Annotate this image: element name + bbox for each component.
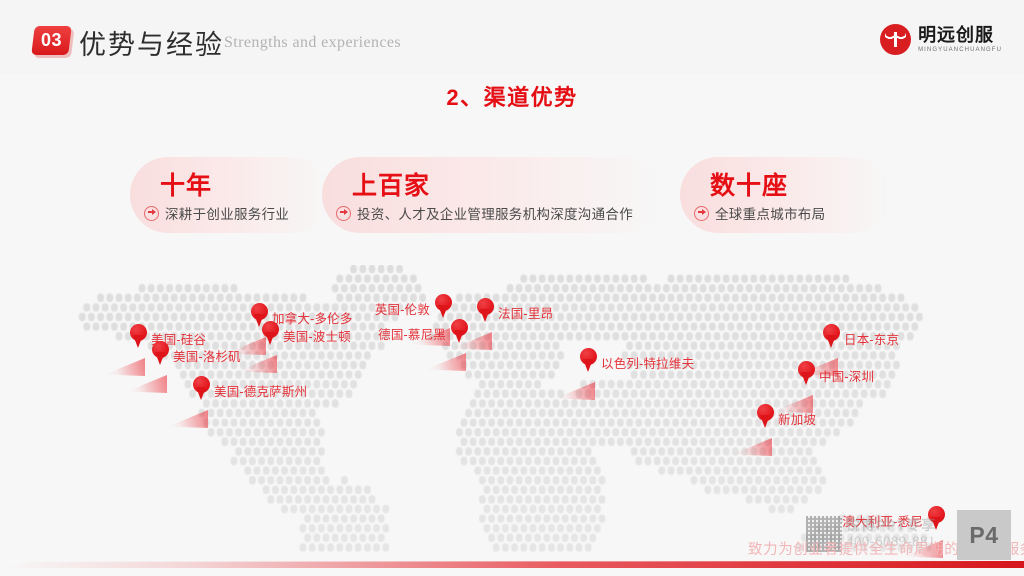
map-pin-icon: [477, 298, 494, 315]
page-title: 优势与经验: [79, 23, 224, 62]
stat-card: 数十座 全球重点城市布局: [680, 157, 890, 233]
stat-description: 深耕于创业服务行业: [165, 203, 289, 223]
map-marker-label: 法国-里昂: [498, 303, 553, 322]
logo-text: 明远创服 MINGYUANCHUANGFU: [918, 26, 1002, 53]
map-marker-label: 美国-洛杉矶: [173, 346, 241, 365]
map-pin-icon: [193, 376, 210, 393]
map-marker-label: 德国-慕尼黑: [378, 324, 446, 343]
map-marker-label: 新加坡: [778, 409, 816, 428]
slide-header: 03 优势与经验 Strengths and experiences 明远创服 …: [0, 0, 1024, 74]
stat-card: 上百家 投资、人才及企业管理服务机构深度沟通合作: [322, 157, 662, 233]
map-pin-icon: [435, 294, 452, 311]
stat-value: 数十座: [710, 166, 788, 202]
section-title: 2、渠道优势: [0, 80, 1024, 112]
page-number: P4: [957, 510, 1011, 560]
stat-description-row: 全球重点城市布局: [694, 203, 825, 223]
stat-description-row: 深耕于创业服务行业: [144, 203, 289, 223]
map-marker-label: 英国-伦敦: [375, 299, 430, 318]
section-number-text: 03: [33, 26, 70, 55]
slide-root: 03 优势与经验 Strengths and experiences 明远创服 …: [0, 0, 1024, 576]
map-pin-icon: [262, 321, 279, 338]
logo-mark-icon: [880, 24, 911, 55]
logo-name-cn: 明远创服: [918, 26, 1002, 44]
map-marker-label: 美国-波士顿: [283, 326, 351, 345]
logo-name-en: MINGYUANCHUANGFU: [918, 47, 1002, 53]
company-logo: 明远创服 MINGYUANCHUANGFU: [880, 24, 1002, 55]
stat-value: 十年: [160, 166, 212, 202]
map-marker-label: 中国-深圳: [819, 366, 874, 385]
section-number-badge: 03: [31, 26, 72, 55]
map-marker-label: 以色列-特拉维夫: [601, 353, 694, 372]
footer-accent-bar: [0, 561, 1024, 568]
map-pin-icon: [757, 404, 774, 421]
map-pin-icon: [130, 324, 147, 341]
stat-description: 投资、人才及企业管理服务机构深度沟通合作: [357, 203, 633, 223]
map-pin-icon: [152, 341, 169, 358]
stat-description-row: 投资、人才及企业管理服务机构深度沟通合作: [336, 203, 633, 223]
stat-card: 十年 深耕于创业服务行业: [130, 157, 330, 233]
arrow-bullet-icon: [336, 206, 351, 221]
page-subtitle: Strengths and experiences: [224, 34, 401, 52]
map-marker-label: 澳大利亚-悉尼: [842, 511, 923, 530]
map-marker-label: 美国-德克萨斯州: [214, 381, 307, 400]
map-marker-label: 加拿大-多伦多: [272, 308, 353, 327]
map-pin-icon: [580, 348, 597, 365]
map-pin-icon: [798, 361, 815, 378]
arrow-bullet-icon: [144, 206, 159, 221]
map-pin-icon: [928, 506, 945, 523]
map-pin-icon: [823, 324, 840, 341]
map-pin-icon: [451, 319, 468, 336]
stat-value: 上百家: [352, 166, 430, 202]
arrow-bullet-icon: [694, 206, 709, 221]
map-pin-icon: [251, 303, 268, 320]
stat-description: 全球重点城市布局: [715, 203, 825, 223]
map-marker-label: 日本-东京: [844, 329, 899, 348]
